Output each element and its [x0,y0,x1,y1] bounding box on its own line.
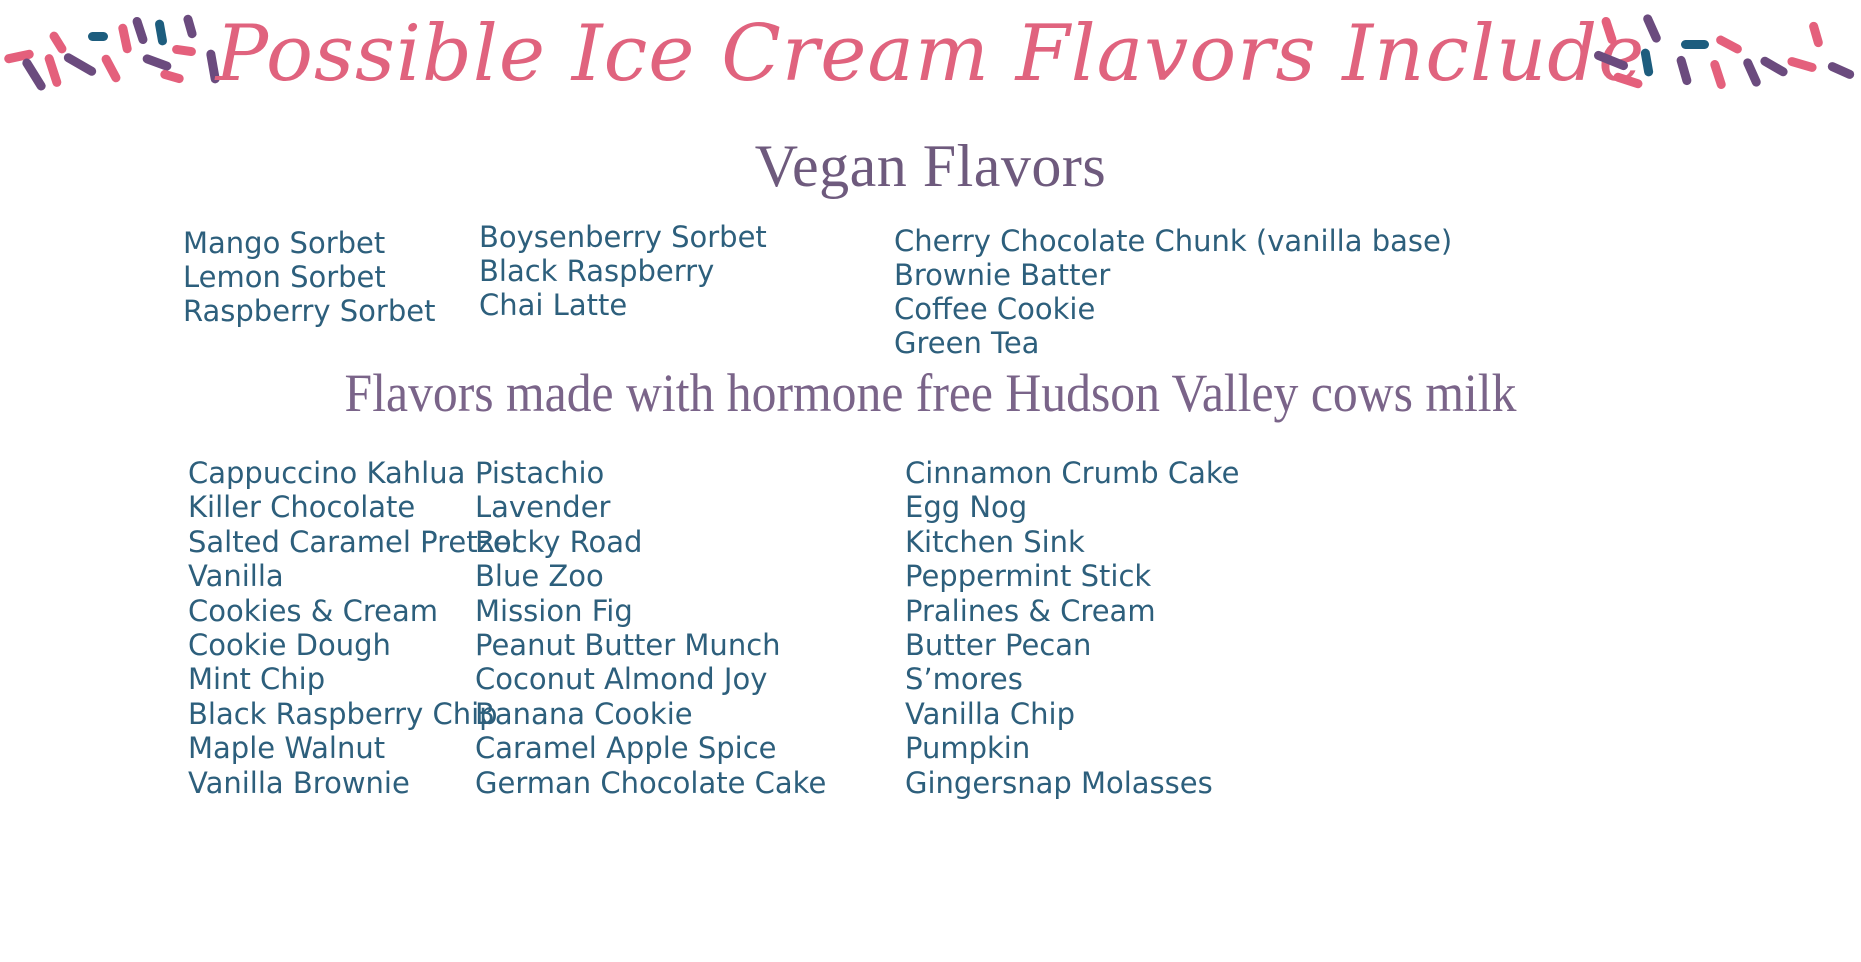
flavor-item: Salted Caramel Pretzel [188,525,465,559]
flavor-item: Coffee Cookie [894,292,1861,326]
flavor-item: Pralines & Cream [905,594,1861,628]
flavor-item: Vanilla [188,559,465,593]
flavor-item: Cookies & Cream [188,594,465,628]
dairy-flavor-columns: Cappuccino KahluaKiller ChocolateSalted … [0,456,1861,800]
page-title: Possible Ice Cream Flavors Include [0,2,1861,106]
vegan-column-2: Boysenberry SorbetBlack RaspberryChai La… [465,212,881,360]
flavor-item: Coconut Almond Joy [475,662,885,696]
flavor-item: Cookie Dough [188,628,465,662]
flavor-item: S’mores [905,662,1861,696]
flavor-item: Cappuccino Kahlua [188,456,465,490]
vegan-flavor-columns: Mango SorbetLemon SorbetRaspberry Sorbet… [0,212,1861,360]
flavor-item: Cinnamon Crumb Cake [905,456,1861,490]
flavor-item: Green Tea [894,326,1861,360]
flavor-item: Butter Pecan [905,628,1861,662]
flavor-item: Lavender [475,490,885,524]
dairy-column-2: PistachioLavenderRocky RoadBlue ZooMissi… [465,456,885,800]
flavor-item: Pumpkin [905,731,1861,765]
flavor-item: Mission Fig [475,594,885,628]
vegan-column-3: Cherry Chocolate Chunk (vanilla base)Bro… [881,212,1861,360]
dairy-column-3: Cinnamon Crumb CakeEgg NogKitchen SinkPe… [885,456,1861,800]
flavor-item: Maple Walnut [188,731,465,765]
title-banner: Possible Ice Cream Flavors Include [0,0,1861,112]
flavor-item: Lemon Sorbet [183,260,465,294]
flavor-item: Boysenberry Sorbet [479,220,881,254]
flavor-item: Caramel Apple Spice [475,731,885,765]
dairy-column-1: Cappuccino KahluaKiller ChocolateSalted … [0,456,465,800]
flavor-item: Gingersnap Molasses [905,766,1861,800]
flavor-item: Black Raspberry [479,254,881,288]
flavor-item: Egg Nog [905,490,1861,524]
vegan-section-heading: Vegan Flavors [0,130,1861,202]
flavor-item: Rocky Road [475,525,885,559]
flavor-item: Vanilla Brownie [188,766,465,800]
flavor-item: Peppermint Stick [905,559,1861,593]
flavor-item: Vanilla Chip [905,697,1861,731]
flavor-item: Mint Chip [188,662,465,696]
flavor-item: Kitchen Sink [905,525,1861,559]
flavor-item: Mango Sorbet [183,226,465,260]
vegan-column-1: Mango SorbetLemon SorbetRaspberry Sorbet [0,212,465,360]
flavor-item: Chai Latte [479,288,881,322]
flavor-item: Brownie Batter [894,258,1861,292]
flavor-item: Banana Cookie [475,697,885,731]
flavor-item: Pistachio [475,456,885,490]
flavor-item: German Chocolate Cake [475,766,885,800]
flavor-item: Killer Chocolate [188,490,465,524]
flavor-item: Black Raspberry Chip [188,697,465,731]
flavor-item: Cherry Chocolate Chunk (vanilla base) [894,224,1861,258]
flavor-item: Blue Zoo [475,559,885,593]
flavor-item: Raspberry Sorbet [183,294,465,328]
flavor-item: Peanut Butter Munch [475,628,885,662]
dairy-section-heading: Flavors made with hormone free Hudson Va… [74,360,1786,426]
